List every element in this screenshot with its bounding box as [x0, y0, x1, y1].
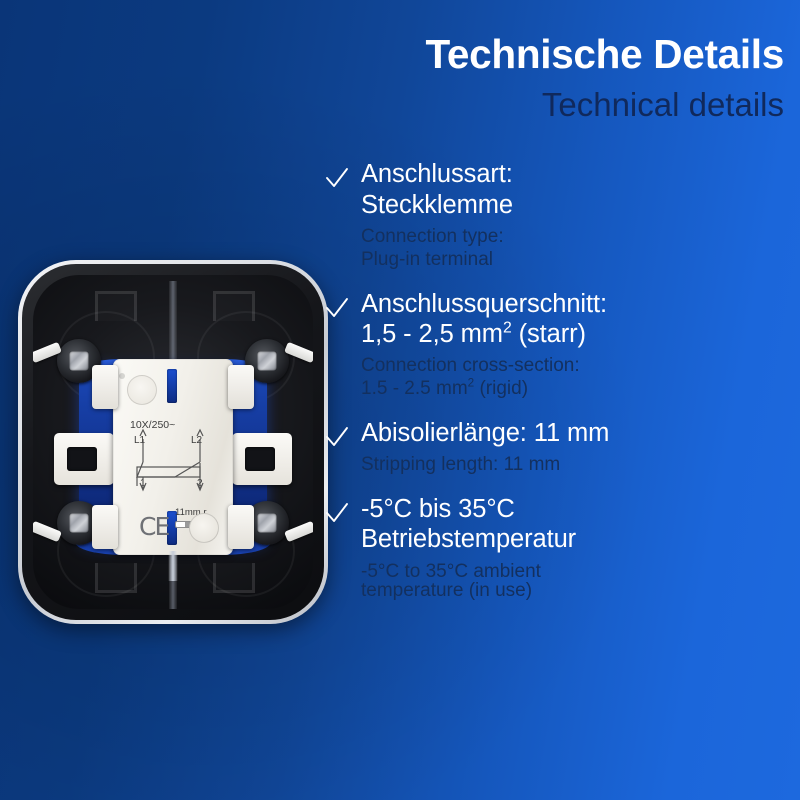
- spec-de-text: Anschlussquerschnitt: 1,5 - 2,5 mm2 (sta…: [361, 290, 607, 348]
- spec-en-line2: Plug-in terminal: [361, 249, 493, 270]
- check-icon: [322, 293, 352, 323]
- spec-en-text: -5°C to 35°C ambient temperature (in use…: [361, 562, 784, 601]
- spec-en-line1: -5°C to 35°C ambient: [361, 561, 541, 582]
- spec-en-line1: Connection cross-section:: [361, 355, 580, 376]
- ce-mark-icon: CE: [139, 512, 168, 541]
- spec-body: Anschlussquerschnitt: 1,5 - 2,5 mm2 (sta…: [352, 289, 784, 401]
- housing-clip: [213, 291, 255, 321]
- vde-approval-icon: [189, 513, 219, 543]
- mechanism-printed-markings: 10X/250~ L1 L2 1 2 11mm r: [113, 359, 233, 555]
- spec-de-line2-post: (starr): [512, 320, 586, 348]
- spec-de-superscript: 2: [503, 319, 512, 336]
- spec-body: -5°C bis 35°C Betriebstemperatur -5°C to…: [352, 494, 784, 600]
- spec-de-line1: Anschlussart:: [361, 160, 513, 188]
- spec-de-line1: Anschlussquerschnitt:: [361, 290, 607, 318]
- spec-de-line2: Steckklemme: [361, 191, 513, 219]
- housing-clip: [213, 563, 255, 593]
- spec-de-line2: Betriebstemperatur: [361, 525, 576, 553]
- claw-carrier-right: [232, 433, 292, 485]
- switch-dark-housing: 10X/250~ L1 L2 1 2 11mm r: [22, 264, 324, 620]
- spec-en-line2: temperature (in use): [361, 580, 532, 601]
- spec-en-line2-pre: 1.5 - 2.5 mm: [361, 378, 468, 399]
- spec-de-line1: -5°C bis 35°C: [361, 495, 515, 523]
- check-icon: [322, 422, 352, 452]
- technical-details-panel: Technische Details Technical details Ans…: [322, 34, 784, 774]
- spec-item-cross-section: Anschlussquerschnitt: 1,5 - 2,5 mm2 (sta…: [322, 289, 784, 401]
- page-title: Technische Details: [322, 34, 784, 75]
- spec-de-line2-pre: 1,5 - 2,5 mm: [361, 320, 503, 348]
- spec-item-operating-temperature: -5°C bis 35°C Betriebstemperatur -5°C to…: [322, 494, 784, 600]
- spec-item-stripping-length: Abisolierlänge: 11 mm Stripping length: …: [322, 418, 784, 477]
- spec-body: Abisolierlänge: 11 mm Stripping length: …: [352, 418, 784, 477]
- product-image-wall-switch: 10X/250~ L1 L2 1 2 11mm r: [18, 260, 328, 624]
- housing-clip: [95, 563, 137, 593]
- spec-de-text: Abisolierlänge: 11 mm: [361, 418, 784, 448]
- spec-item-connection-type: Anschlussart: Steckklemme Connection typ…: [322, 159, 784, 271]
- page-subtitle: Technical details: [322, 86, 784, 124]
- check-icon: [322, 498, 352, 528]
- spec-en-text: Connection type: Plug-in terminal: [361, 226, 784, 272]
- spec-en-text: Connection cross-section: 1.5 - 2.5 mm2 …: [361, 355, 784, 401]
- claw-carrier-left: [54, 433, 114, 485]
- spec-en-line2-post: (rigid): [474, 378, 528, 399]
- spec-list: Anschlussart: Steckklemme Connection typ…: [322, 159, 784, 600]
- spec-de-text: -5°C bis 35°C Betriebstemperatur: [361, 495, 576, 553]
- switch-mechanism-insert: 10X/250~ L1 L2 1 2 11mm r: [86, 359, 260, 555]
- spec-de-text: Anschlussart: Steckklemme: [361, 160, 513, 218]
- spec-en-line1: Connection type:: [361, 226, 504, 247]
- switch-inner-cavity: 10X/250~ L1 L2 1 2 11mm r: [33, 275, 313, 609]
- check-icon: [322, 163, 352, 193]
- housing-clip: [95, 291, 137, 321]
- spec-body: Anschlussart: Steckklemme Connection typ…: [352, 159, 784, 271]
- bottom-stem: [169, 551, 178, 581]
- switch-outer-frame: 10X/250~ L1 L2 1 2 11mm r: [18, 260, 328, 624]
- spec-en-text: Stripping length: 11 mm: [361, 454, 784, 477]
